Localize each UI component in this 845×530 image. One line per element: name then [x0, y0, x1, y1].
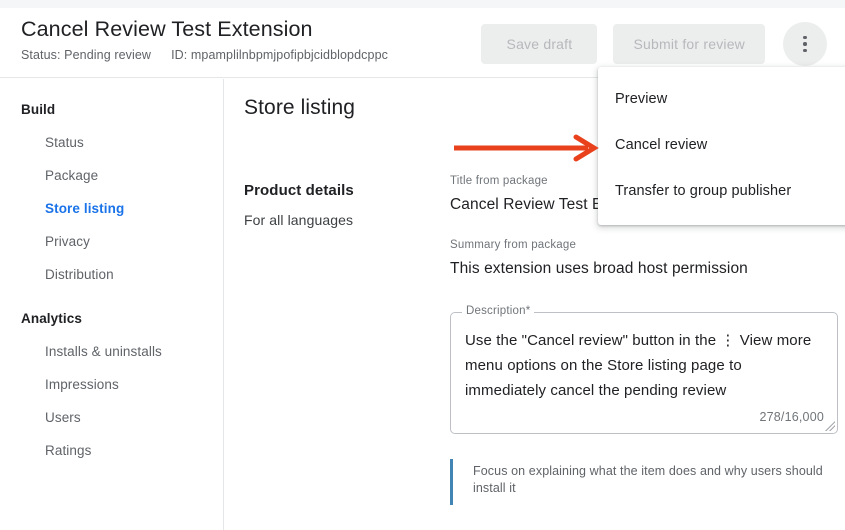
- menu-item-cancel-review[interactable]: Cancel review: [598, 122, 845, 168]
- page-title: Cancel Review Test Extension: [21, 16, 388, 42]
- dot: [803, 36, 807, 40]
- sidebar-group-build: Build: [0, 93, 223, 126]
- store-listing-heading: Store listing: [244, 96, 355, 120]
- dot: [803, 49, 807, 53]
- dot: [803, 42, 807, 46]
- status-text: Status: Pending review: [21, 48, 151, 62]
- description-textarea[interactable]: Description* Use the "Cancel review" but…: [450, 312, 838, 434]
- submit-for-review-button[interactable]: Submit for review: [613, 24, 765, 64]
- top-strip: [0, 0, 845, 8]
- summary-from-package-field: Summary from package This extension uses…: [450, 238, 840, 280]
- sidebar-group-analytics: Analytics: [0, 291, 223, 335]
- sidebar-item-package[interactable]: Package: [0, 159, 223, 192]
- sidebar-item-installs-uninstalls[interactable]: Installs & uninstalls: [0, 335, 223, 368]
- product-details-column: Product details For all languages: [244, 182, 434, 228]
- menu-item-preview[interactable]: Preview: [598, 76, 845, 122]
- sidebar-item-status[interactable]: Status: [0, 126, 223, 159]
- sidebar-nav: Build Status Package Store listing Priva…: [0, 79, 224, 530]
- sidebar-item-impressions[interactable]: Impressions: [0, 368, 223, 401]
- sidebar-item-store-listing[interactable]: Store listing: [0, 192, 223, 225]
- extension-dashboard-page: Cancel Review Test Extension Status: Pen…: [0, 0, 845, 530]
- header-meta-row: Status: Pending review ID: mpamplilnbpmj…: [21, 48, 388, 62]
- description-label: Description*: [462, 305, 534, 317]
- more-vert-icon[interactable]: [783, 22, 827, 66]
- description-hint-text: Focus on explaining what the item does a…: [473, 463, 823, 497]
- save-draft-button[interactable]: Save draft: [481, 24, 597, 64]
- header-actions: Save draft Submit for review: [481, 22, 827, 66]
- header-title-block: Cancel Review Test Extension Status: Pen…: [21, 16, 388, 62]
- description-hint: Focus on explaining what the item does a…: [450, 459, 838, 505]
- summary-from-package-value: This extension uses broad host permissio…: [450, 258, 840, 280]
- summary-from-package-label: Summary from package: [450, 238, 840, 253]
- sidebar-item-privacy[interactable]: Privacy: [0, 225, 223, 258]
- sidebar-item-users[interactable]: Users: [0, 401, 223, 434]
- resize-handle-icon[interactable]: [825, 421, 835, 431]
- sidebar-item-distribution[interactable]: Distribution: [0, 258, 223, 291]
- extension-id-text: ID: mpamplilnbpmjpofipbjcidblopdcppc: [171, 48, 388, 62]
- description-value[interactable]: Use the "Cancel review" button in the ⋮ …: [451, 313, 837, 403]
- annotation-arrow-icon: [452, 134, 602, 162]
- description-char-count: 278/16,000: [759, 410, 824, 424]
- overflow-menu: Preview Cancel review Transfer to group …: [598, 67, 845, 225]
- sidebar-item-ratings[interactable]: Ratings: [0, 434, 223, 467]
- menu-item-transfer-to-group-publisher[interactable]: Transfer to group publisher: [598, 168, 845, 214]
- product-details-subtext: For all languages: [244, 212, 434, 228]
- product-details-heading: Product details: [244, 182, 434, 199]
